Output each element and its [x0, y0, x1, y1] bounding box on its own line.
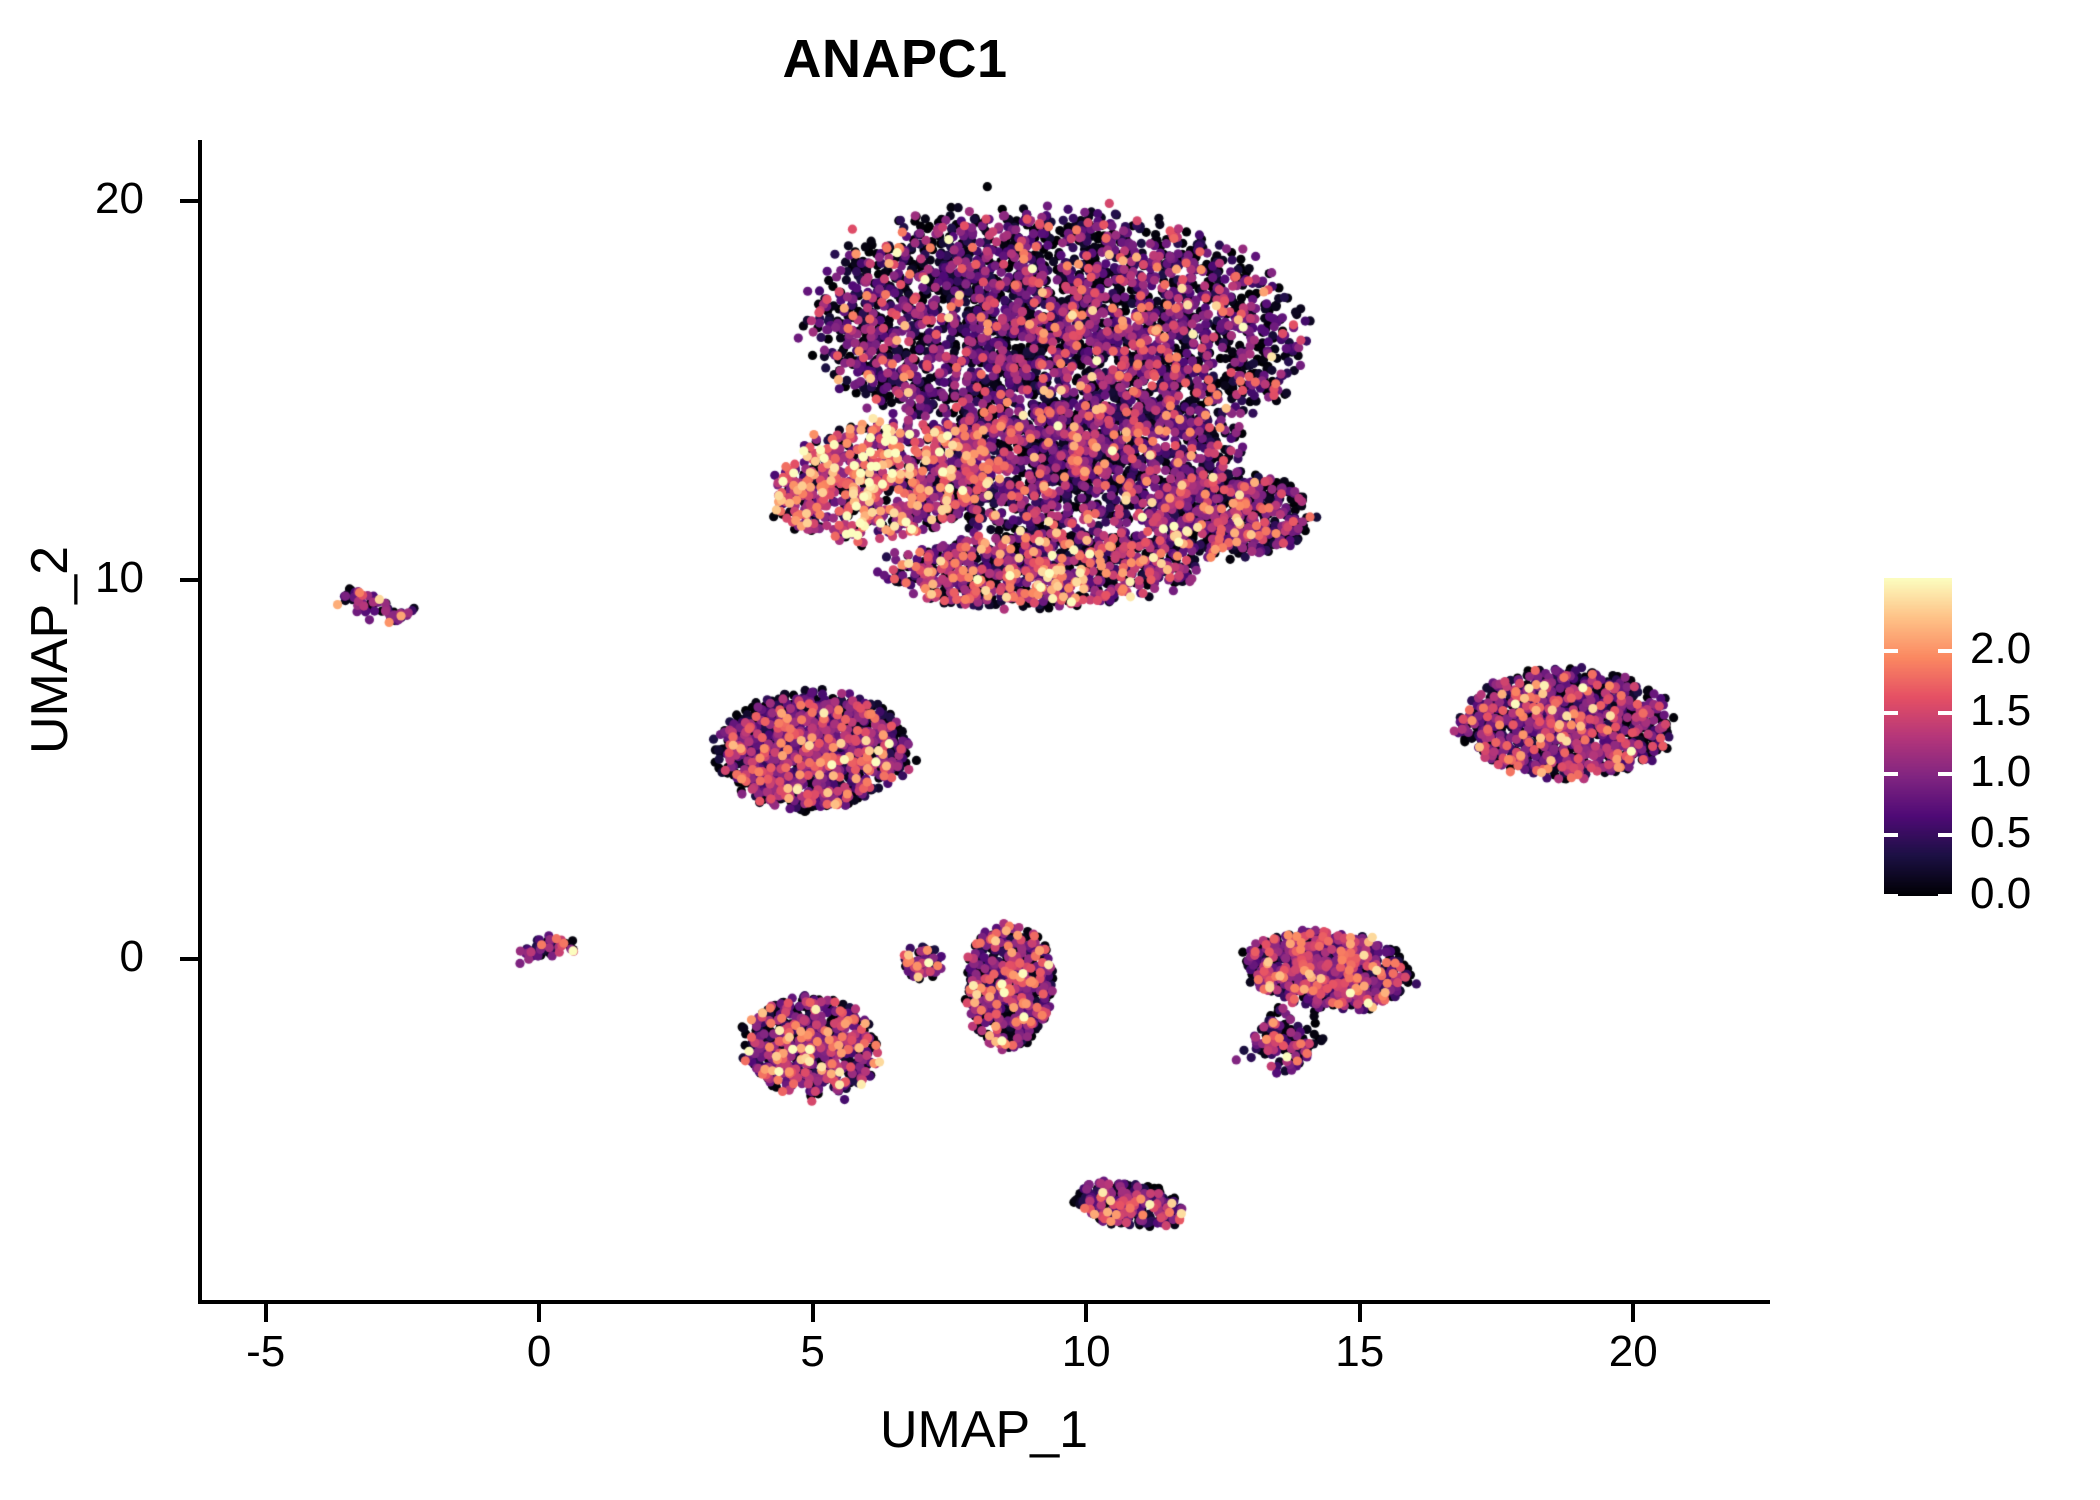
colorbar-tick-mark	[1884, 649, 1898, 653]
colorbar-tick-label: 0.0	[1970, 872, 2100, 916]
x-tick-label: 10	[1016, 1330, 1156, 1374]
x-tick-label: 5	[743, 1330, 883, 1374]
colorbar-tick-mark	[1884, 772, 1898, 776]
y-tick-mark	[180, 578, 198, 582]
colorbar-tick-mark	[1884, 894, 1898, 898]
colorbar-tick-mark	[1884, 711, 1898, 715]
y-tick-label: 0	[4, 935, 144, 979]
colorbar-tick-mark	[1938, 649, 1952, 653]
y-tick-label: 20	[4, 177, 144, 221]
y-axis-line	[198, 140, 202, 1302]
colorbar-tick-label: 1.0	[1970, 750, 2100, 794]
x-tick-mark	[1358, 1304, 1362, 1322]
x-tick-label: -5	[196, 1330, 336, 1374]
colorbar-legend: 0.00.51.01.52.0	[1884, 578, 1952, 896]
colorbar-tick-mark	[1938, 711, 1952, 715]
colorbar-tick-mark	[1938, 894, 1952, 898]
x-tick-mark	[1631, 1304, 1635, 1322]
page-title: ANAPC1	[0, 28, 1790, 90]
scatter-plot-canvas	[200, 140, 1770, 1300]
y-tick-mark	[180, 199, 198, 203]
x-axis-title: UMAP_1	[198, 1400, 1770, 1460]
colorbar-tick-label: 0.5	[1970, 811, 2100, 855]
colorbar-tick-mark	[1938, 772, 1952, 776]
colorbar-tick-label: 2.0	[1970, 627, 2100, 671]
x-tick-mark	[1084, 1304, 1088, 1322]
x-tick-mark	[537, 1304, 541, 1322]
x-axis-line	[198, 1300, 1770, 1304]
figure-root: ANAPC1 01020 -505101520 UMAP_2 UMAP_1 0.…	[0, 0, 2100, 1500]
colorbar-tick-label: 1.5	[1970, 689, 2100, 733]
x-tick-label: 20	[1563, 1330, 1703, 1374]
colorbar-gradient	[1884, 578, 1952, 896]
x-tick-label: 15	[1290, 1330, 1430, 1374]
colorbar-tick-mark	[1884, 833, 1898, 837]
x-tick-mark	[264, 1304, 268, 1322]
y-tick-mark	[180, 957, 198, 961]
x-tick-mark	[811, 1304, 815, 1322]
y-axis-title: UMAP_2	[20, 400, 80, 900]
colorbar-tick-mark	[1938, 833, 1952, 837]
plot-panel	[200, 140, 1770, 1300]
x-tick-label: 0	[469, 1330, 609, 1374]
